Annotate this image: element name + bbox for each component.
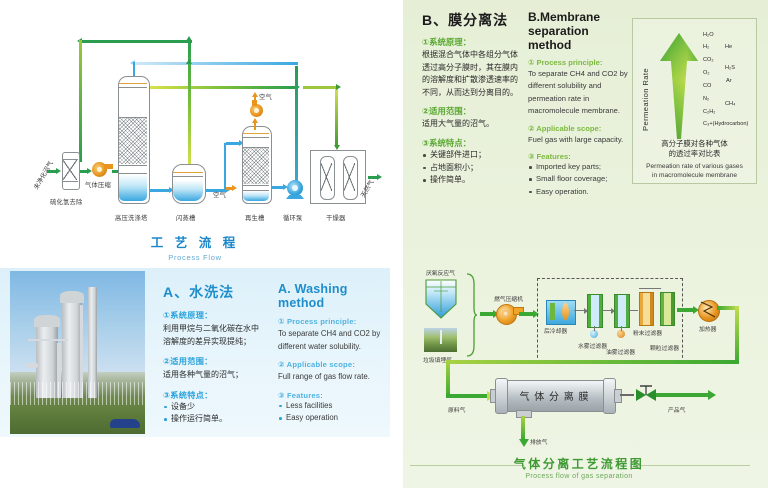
gas-label-c3plus: C₃+(Hydrocarbon) [703, 121, 748, 127]
gs-pipe-to-compressor [480, 312, 494, 316]
pf-label-flash-tank: 闪蒸槽 [176, 213, 196, 222]
permeation-caption-cn-l1: 高分子膜对各种气体 [633, 139, 756, 149]
gas-label-c2h2: C₂H₂ [703, 109, 715, 115]
membrane-cn-sub-1: ①系统原理： [422, 36, 522, 48]
photo-tower-second-cap [60, 291, 84, 303]
washing-cn-bullet-2: 操作运行简单。 [163, 413, 263, 426]
gs-powder-filter-top [639, 288, 661, 289]
gs-label-anaerobic-gas: 厌氧反应气 [426, 268, 455, 277]
membrane-en-body-2: Fuel gas with large capacity. [528, 134, 628, 146]
dryer-x-1 [321, 163, 332, 191]
membrane-en-body-1: To separate CH4 and CO2 by different sol… [528, 68, 628, 118]
photo-tower-main-cap [34, 315, 60, 327]
process-flow-title: 工 艺 流 程 Process Flow [0, 232, 390, 262]
right-column: B、膜分离法 ①系统原理： 根据混合气体中各组分气体透过高分子膜时，其在膜内的溶… [390, 0, 768, 488]
gs-label-oil-mist-filter: 油雾过滤器 [606, 347, 635, 356]
pipe-air-up [254, 122, 256, 130]
arrow-product-out-head [377, 174, 382, 180]
gas-label-co2: CO₂ [703, 57, 714, 63]
gas-label-h2: H₂ [703, 44, 709, 50]
gs-pipe-right-down [735, 306, 739, 364]
regen-cap-rule [243, 133, 269, 134]
pf-label-regeneration-tank: 再生槽 [245, 213, 265, 222]
gas-label-h2s: H₂S [725, 65, 735, 71]
gas-label-ch4: CH₄ [725, 101, 735, 107]
arrow-air-up-lower [252, 118, 258, 123]
washing-en-sub-1: ① Process principle: [278, 317, 388, 326]
regen-rule-1 [243, 137, 269, 138]
pf-label-air-bottom: 空气 [213, 190, 226, 199]
pipe-blue-regen-riser [224, 143, 226, 190]
gs-compressor-core [502, 310, 509, 317]
membrane-heading-en-l2: separation method [528, 24, 628, 52]
membrane-heading-en-l1: B.Membrane [528, 10, 628, 24]
permeation-axis-label: Permeation Rate [641, 35, 650, 131]
regen-rule-2 [243, 147, 269, 148]
circulation-pump-core [292, 185, 298, 191]
h2s-packing-x [63, 160, 77, 180]
gs-label-gas-compressor: 燃气压缩机 [494, 294, 523, 303]
photo-deck [28, 339, 68, 341]
membrane-en-bullet-1: Imported key parts; [528, 161, 628, 173]
gas-label-h2o: H₂O [703, 32, 714, 38]
gas-label-co: CO [703, 83, 711, 89]
gas-label-he: He [725, 44, 732, 50]
h2s-rule-2 [62, 181, 78, 182]
gs-pipe-product-out [656, 393, 709, 397]
gs-brace-icon [464, 272, 478, 358]
membrane-cn-body-1: 根据混合气体中各组分气体透过高分子膜时，其在膜内的溶解度和扩散渗透速率的不同，从… [422, 49, 522, 99]
gs-arrow-exhaust [519, 439, 529, 447]
compressor-core [97, 167, 102, 172]
air-blower-core [254, 108, 259, 113]
arrow-regen-top-in [226, 142, 240, 145]
gs-arrow-product-out [708, 390, 716, 400]
anaerobic-reactor-icon [424, 278, 458, 320]
hp-rule-1 [119, 87, 147, 88]
washing-cn-body-2: 适用各种气量的沼气； [163, 369, 263, 382]
gs-oil-mist-filter-icon [614, 294, 630, 328]
dryer-x-2 [344, 163, 355, 191]
compressor-nozzle [104, 164, 113, 169]
process-flow-diagram: 未净化沼气 硫化氢去除 气体压缩 高压洗涤塔 [0, 0, 390, 268]
photo-car [110, 419, 140, 428]
pf-label-dryer: 干燥器 [326, 213, 346, 222]
washing-cn-sub-2: ②适用范围： [163, 355, 263, 367]
membrane-cn-body-2: 适用大气量的沼气。 [422, 118, 522, 131]
regen-liquid [243, 191, 269, 201]
permeation-caption-en-l2: in macromolecule membrane [633, 171, 756, 180]
washing-heading-en: A. Washing method [278, 282, 388, 310]
gas-separation-title-cn: 气体分离工艺流程图 [390, 455, 768, 472]
membrane-column-en: B.Membrane separation method ① Process p… [528, 10, 628, 198]
regen-packing [243, 148, 269, 184]
pipe-air-out [254, 96, 256, 104]
gs-powder-filter-icon [639, 292, 654, 326]
washing-cn-body-1: 利用甲烷与二氧化碳在水中溶解度的差异实现提纯； [163, 323, 263, 348]
process-flow-title-en: Process Flow [0, 253, 390, 262]
washing-en-bullet-2: Easy operation [278, 412, 388, 425]
washing-cn-sub-3: ③系统特点： [163, 389, 263, 401]
washing-cn-sub-1: ①系统原理： [163, 309, 263, 321]
pipe-green-far-right-top [303, 86, 337, 89]
pf-label-circulation-pump: 循环泵 [283, 213, 303, 222]
gas-label-ar: Ar [726, 78, 732, 84]
gs-after-cooler-fin-2 [562, 303, 569, 320]
permeation-caption-en-l1: Permeation rate of various gases [633, 162, 756, 171]
pf-label-air-top: 空气 [259, 92, 272, 101]
membrane-en-bullet-2: Small floor coverage; [528, 173, 628, 185]
gas-separation-title: 气体分离工艺流程图 Process flow of gas separation [390, 455, 768, 480]
membrane-cn-sub-3: ③系统特点： [422, 137, 522, 149]
gs-after-cooler-fin-1 [550, 303, 555, 320]
hp-rule-2 [119, 117, 147, 118]
gs-label-powder-filter: 粉末过滤器 [633, 328, 662, 337]
membrane-cn-sub-2: ②适用范围： [422, 105, 522, 117]
arrow-feed-1-head [56, 168, 61, 174]
pipe-green-downfeed [79, 40, 82, 162]
hp-cap-rule [119, 83, 147, 84]
washing-en-body-1: To separate CH4 and CO2 by different wat… [278, 328, 388, 353]
washing-en-sub-2: ② Applicable scope: [278, 360, 388, 369]
pf-label-hp-wash-tower: 高压洗涤塔 [115, 213, 147, 222]
flash-liquid [173, 180, 203, 201]
pipe-blue-top-down [133, 62, 135, 77]
arrow-farright-r [336, 84, 341, 90]
gs-label-water-mist-filter: 水雾过滤器 [578, 341, 607, 350]
gs-oil-mist-stem [621, 326, 622, 331]
gas-separation-title-en: Process flow of gas separation [390, 473, 768, 480]
membrane-cn-bullet-2: 占地面积小； [422, 162, 522, 175]
gs-pipe-feed-in [446, 394, 488, 398]
washing-method-panel: A、水洗法 ①系统原理： 利用甲烷与二氧化碳在水中溶解度的差异实现提纯； ②适用… [0, 268, 390, 437]
gs-pipe-exhaust [521, 416, 525, 440]
washing-cn-bullet-1: 设备少 [163, 401, 263, 414]
membrane-en-bullet-3: Easy operation. [528, 186, 628, 198]
hp-liquid [119, 174, 147, 201]
arrow-air-out-head [252, 92, 258, 97]
landfill-flare-stack [440, 330, 442, 344]
gas-label-o2: O₂ [703, 70, 710, 76]
gs-pipe-left-down [446, 360, 450, 398]
pipe-blue-top [134, 62, 298, 65]
arrow-green-flash-up-head2 [186, 59, 192, 64]
left-column: 未净化沼气 硫化氢去除 气体压缩 高压洗涤塔 [0, 0, 390, 488]
gs-water-mist-stem [594, 326, 595, 331]
photo-fence [10, 382, 145, 405]
gs-pipe-bottom-left [446, 360, 739, 364]
arrow-green-flash-up-head [186, 36, 192, 41]
membrane-cn-bullet-1: 关键部件进口； [422, 149, 522, 162]
gs-oil-mist-drop [617, 330, 625, 338]
membrane-en-sub-3: ③ Features: [528, 152, 628, 161]
hp-rule-3 [119, 165, 147, 166]
membrane-heading-cn: B、膜分离法 [422, 10, 522, 30]
pf-label-h2s-removal: 硫化氢去除 [50, 197, 82, 206]
gs-conn-3 [628, 310, 638, 311]
gs-label-after-cooler: 后冷却器 [544, 326, 567, 335]
circulation-pump-base [286, 195, 304, 199]
washing-column-cn: A、水洗法 ①系统原理： 利用甲烷与二氧化碳在水中溶解度的差异实现提纯； ②适用… [163, 282, 263, 426]
gs-particle-filter-icon [660, 292, 675, 326]
pipe-green-mid [150, 86, 296, 89]
membrane-method-section: B、膜分离法 ①系统原理： 根据混合气体中各组分气体透过高分子膜时，其在膜内的溶… [390, 0, 768, 200]
pipe-green-top-return [82, 40, 192, 43]
pf-label-raw-gas: 未净化沼气 [31, 159, 55, 191]
photo-pipe-c [26, 363, 38, 368]
gs-pipe-to-heater [677, 308, 694, 312]
arrow-air-bottom-line [226, 187, 233, 190]
gas-separation-diagram: 厌氧反应气 垃圾填埋气 燃气压缩机 [390, 258, 768, 488]
washing-plant-photo [10, 271, 145, 434]
arrow-tower-flash [150, 189, 170, 192]
membrane-cn-bullet-3: 操作简单。 [422, 174, 522, 187]
gs-label-exhaust-gas: 排放气 [530, 437, 547, 446]
permeation-rate-card: Permeation Rate [632, 18, 757, 184]
gs-membrane-flange-right [614, 389, 622, 403]
gs-label-product-gas: 产品气 [668, 405, 685, 414]
pf-label-gas-compression: 气体压缩 [85, 180, 111, 189]
pipe-green-right-riser [295, 66, 298, 191]
gs-label-feed-gas: 原料气 [448, 405, 465, 414]
gs-water-mist-drop [590, 330, 598, 338]
washing-en-bullet-1: Less facilities [278, 400, 388, 413]
permeation-caption-cn-l2: 的透过率对比表 [633, 149, 756, 159]
washing-column-en: A. Washing method ① Process principle: T… [278, 282, 388, 425]
gs-label-heater: 加热器 [699, 324, 716, 333]
membrane-en-sub-1: ① Process principle: [528, 58, 628, 67]
flash-cap-rule [173, 172, 203, 173]
washing-en-sub-3: ③ Features: [278, 391, 388, 400]
membrane-column-cn: B、膜分离法 ①系统原理： 根据混合气体中各组分气体透过高分子膜时，其在膜内的溶… [422, 10, 522, 187]
permeation-arrow-icon [659, 31, 699, 141]
gs-label-particle-filter: 颗粒过滤器 [650, 343, 679, 352]
washing-en-body-2: Full range of gas flow rate. [278, 371, 388, 384]
washing-heading-cn: A、水洗法 [163, 282, 263, 302]
gas-label-n2: N₂ [703, 96, 709, 102]
gs-membrane-label: 气 体 分 离 膜 [495, 388, 614, 403]
flash-rule [173, 176, 203, 177]
gs-pipe-compressor-out [519, 312, 534, 316]
pipe-green-far-right [335, 87, 338, 147]
regen-rule-3 [243, 185, 269, 186]
process-flow-title-cn: 工 艺 流 程 [0, 232, 390, 251]
gs-heater-bolt-icon [698, 300, 718, 320]
hp-packing [119, 118, 147, 164]
gs-pipe-valve-in [620, 394, 634, 396]
membrane-en-sub-2: ② Applicable scope: [528, 124, 628, 133]
gs-water-mist-filter-icon [587, 294, 603, 328]
